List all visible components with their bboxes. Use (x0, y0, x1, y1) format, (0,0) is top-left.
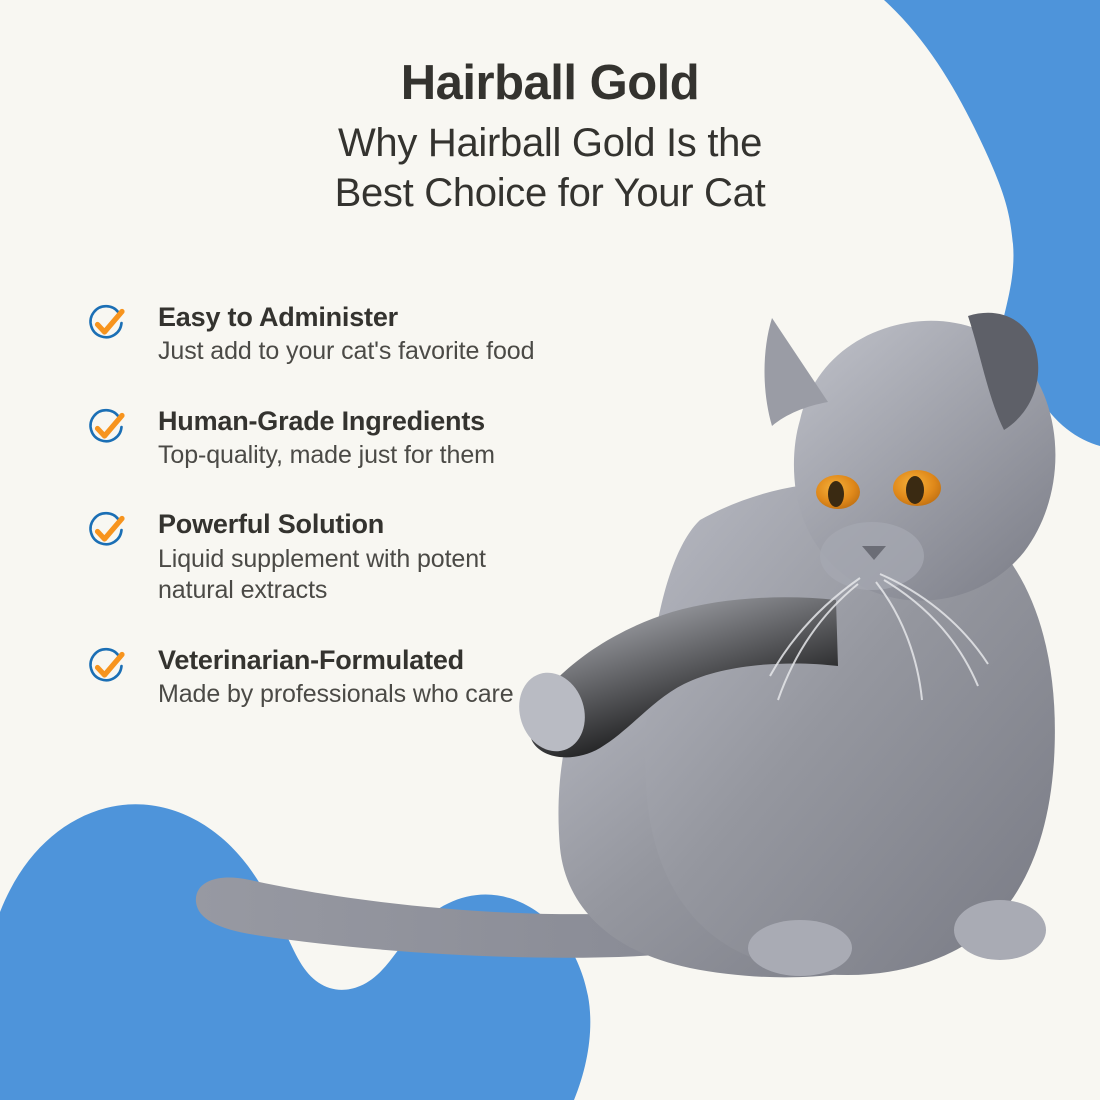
feature-description-line: Just add to your cat's favorite food (158, 336, 644, 368)
feature-title: Powerful Solution (158, 509, 644, 539)
cat-eye-left (816, 475, 860, 509)
feature-description: Liquid supplement with potent natural ex… (158, 544, 644, 607)
subtitle-line-2: Best Choice for Your Cat (0, 168, 1100, 218)
cat-muzzle (820, 522, 924, 590)
blue-blob-bottom-left (0, 804, 590, 1100)
cat-whiskers (770, 574, 988, 700)
cat-body (645, 483, 1054, 976)
feature-item: Powerful Solution Liquid supplement with… (84, 507, 644, 606)
header: Hairball Gold Why Hairball Gold Is the B… (0, 58, 1100, 219)
feature-description: Made by professionals who care (158, 679, 644, 711)
feature-description-line: natural extracts (158, 575, 644, 607)
feature-text: Easy to Administer Just add to your cat'… (158, 300, 644, 368)
feature-list: Easy to Administer Just add to your cat'… (84, 300, 644, 710)
subtitle-line-1: Why Hairball Gold Is the (0, 118, 1100, 168)
cat-front-paw-left (748, 920, 852, 976)
cat-head (794, 321, 1056, 601)
check-circle-icon (84, 509, 130, 555)
cat-nose (862, 546, 886, 560)
feature-text: Human-Grade Ingredients Top-quality, mad… (158, 404, 644, 472)
cat-ear-left (765, 318, 829, 426)
cat-front-paw-right (954, 900, 1046, 960)
feature-item: Veterinarian-Formulated Made by professi… (84, 643, 644, 711)
check-circle-icon (84, 302, 130, 348)
feature-description-line: Top-quality, made just for them (158, 440, 644, 472)
feature-title: Easy to Administer (158, 302, 644, 332)
feature-title: Veterinarian-Formulated (158, 645, 644, 675)
check-circle-icon (84, 645, 130, 691)
cat-ear-right (968, 313, 1038, 430)
feature-text: Veterinarian-Formulated Made by professi… (158, 643, 644, 711)
feature-text: Powerful Solution Liquid supplement with… (158, 507, 644, 606)
feature-item: Easy to Administer Just add to your cat'… (84, 300, 644, 368)
brand-title: Hairball Gold (0, 58, 1100, 110)
cat-eye-right (893, 470, 941, 506)
page-subtitle: Why Hairball Gold Is the Best Choice for… (0, 118, 1100, 219)
feature-title: Human-Grade Ingredients (158, 406, 644, 436)
cat-pupil-right (906, 476, 924, 504)
infographic-poster: Hairball Gold Why Hairball Gold Is the B… (0, 0, 1100, 1100)
feature-description-line: Liquid supplement with potent (158, 544, 644, 576)
feature-description-line: Made by professionals who care (158, 679, 644, 711)
feature-item: Human-Grade Ingredients Top-quality, mad… (84, 404, 644, 472)
cat-pupil-left (828, 481, 844, 507)
feature-description: Just add to your cat's favorite food (158, 336, 644, 368)
feature-description: Top-quality, made just for them (158, 440, 644, 472)
check-circle-icon (84, 406, 130, 452)
cat-tail (196, 877, 940, 957)
